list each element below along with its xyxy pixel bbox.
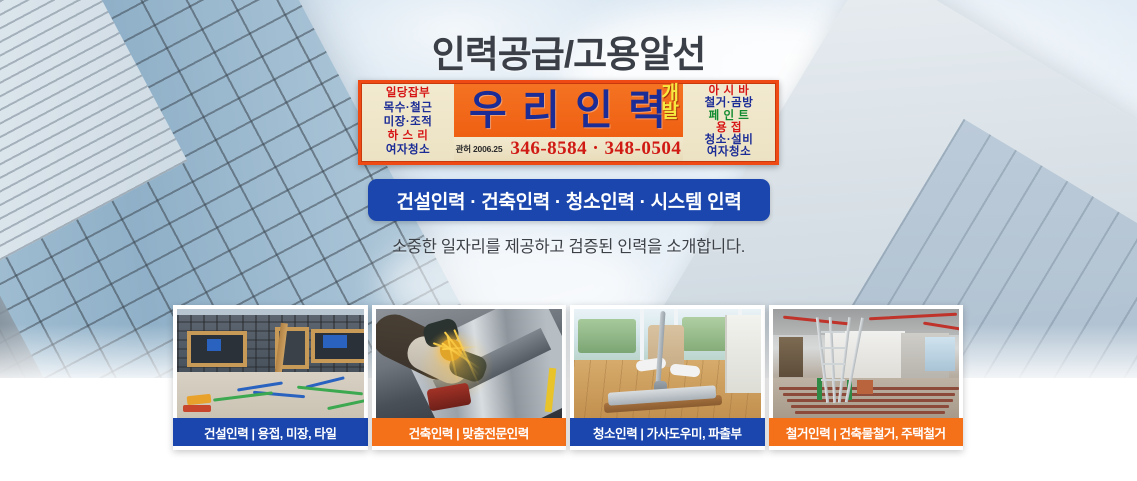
services-banner-label: 건설인력 · 건축인력 · 청소인력 · 시스템 인력 [397, 187, 742, 214]
blue-panel [207, 339, 221, 351]
doorway [779, 337, 803, 377]
construction-site-photo [177, 309, 364, 418]
signboard-right-line: 여자청소 [707, 147, 751, 159]
ladder-step [821, 379, 845, 381]
material-box [857, 380, 873, 394]
site-tool [183, 405, 211, 412]
step-ladder [813, 317, 859, 403]
signboard-brand-name: 우 리 인 력 [469, 90, 668, 131]
service-card-list: 건설인력 | 용접, 미장, 타일 건축인력 | [173, 305, 963, 450]
services-banner: 건설인력 · 건축인력 · 청소인력 · 시스템 인력 [368, 179, 770, 221]
signboard-brand-row: 우 리 인 력 개 발 [454, 84, 683, 137]
signboard-center: 우 리 인 력 개 발 관허 2006.25 346-8584 · 348-05… [454, 84, 683, 161]
interior-demolition-photo [773, 309, 960, 418]
signboard-license: 관허 2006.25 [456, 143, 503, 155]
signboard-brand-badge: 개 발 [662, 85, 679, 121]
service-card-architecture[interactable]: 건축인력 | 맞춤전문인력 [372, 305, 567, 450]
card-caption: 건설인력 | 용접, 미장, 타일 [173, 418, 368, 446]
signboard-left-line: 일당잡부 [386, 88, 430, 100]
signboard-phone: 346-8584 · 348-0504 [510, 138, 681, 160]
signboard-right-line: 페 인 트 [709, 111, 750, 123]
floor-joist [795, 411, 945, 414]
signboard-badge-line2: 발 [662, 103, 679, 121]
ladder-step [821, 363, 845, 365]
signboard-left-line: 여자청소 [386, 145, 430, 157]
card-caption: 철거인력 | 건축물철거, 주택철거 [769, 418, 964, 446]
ladder-step [821, 347, 845, 349]
service-card-demolition[interactable]: 철거인력 | 건축물철거, 주택철거 [769, 305, 964, 450]
signboard-left-line: 하 스 리 [388, 131, 429, 143]
signboard-right-line: 용 접 [716, 123, 742, 135]
signboard-left-services: 일당잡부 목수·철근 미장·조적 하 스 리 여자청소 [362, 84, 454, 161]
signboard-left-line: 목수·철근 [384, 103, 433, 115]
outdoor-greenery [578, 319, 636, 353]
card-caption: 청소인력 | 가사도우미, 파출부 [570, 418, 765, 446]
ladder-rail [815, 317, 828, 403]
signboard-right-line: 철거·곰방 [705, 98, 754, 110]
signboard-right-services: 아 시 바 철거·곰방 페 인 트 용 접 청소·설비 여자청소 [683, 84, 775, 161]
hero-banner: 인력공급/고용알선 일당잡부 목수·철근 미장·조적 하 스 리 여자청소 우 … [0, 0, 1137, 481]
signboard-contact-row: 관허 2006.25 346-8584 · 348-0504 [454, 137, 683, 161]
floor-joist [787, 399, 953, 402]
window-opening [925, 337, 955, 371]
page-subtitle: 소중한 일자리를 제공하고 검증된 인력을 소개합니다. [0, 233, 1137, 257]
floor-joist [791, 405, 949, 408]
floor-mopping-photo [574, 309, 761, 418]
white-cabinet [725, 315, 761, 393]
signboard-right-line: 청소·설비 [705, 135, 754, 147]
ladder-rail [828, 317, 835, 403]
card-caption: 건축인력 | 맞춤전문인력 [372, 418, 567, 446]
signboard-photo: 일당잡부 목수·철근 미장·조적 하 스 리 여자청소 우 리 인 력 개 발 … [358, 80, 779, 165]
blue-panel [323, 335, 347, 348]
signboard-left-line: 미장·조적 [384, 117, 433, 129]
signboard-inner: 일당잡부 목수·철근 미장·조적 하 스 리 여자청소 우 리 인 력 개 발 … [361, 83, 776, 162]
ladder-step [821, 331, 845, 333]
page-title: 인력공급/고용알선 [0, 24, 1137, 78]
metal-grinding-photo [376, 309, 563, 418]
window-mullion [640, 309, 644, 363]
service-card-construction[interactable]: 건설인력 | 용접, 미장, 타일 [173, 305, 368, 450]
service-card-cleaning[interactable]: 청소인력 | 가사도우미, 파출부 [570, 305, 765, 450]
